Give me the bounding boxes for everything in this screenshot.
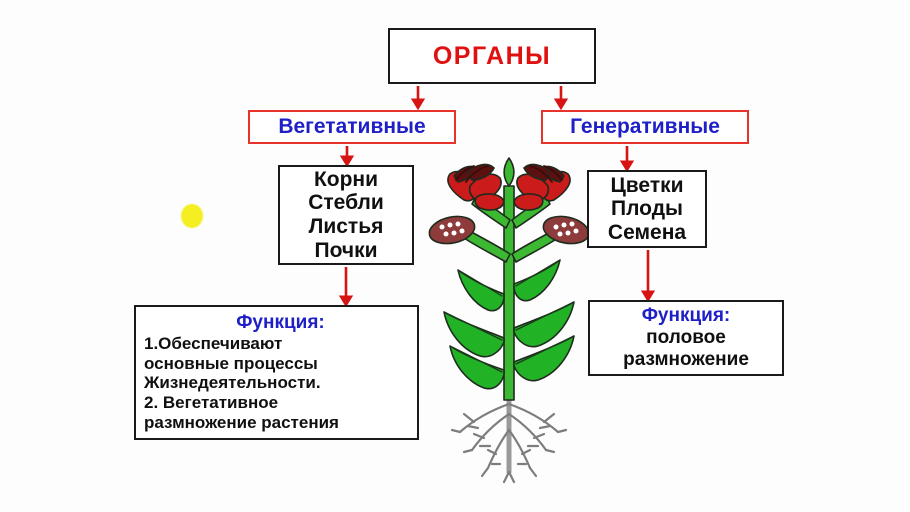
function-line: половое	[646, 327, 726, 349]
organ-list-item: Листья	[309, 215, 384, 239]
organ-list-item: Стебли	[308, 191, 384, 215]
page-title: ОРГАНЫ	[433, 42, 551, 71]
organ-list-item: Цветки	[610, 174, 683, 198]
function-line: Жизнедеятельности.	[144, 373, 321, 393]
function-line: размножение	[623, 349, 749, 371]
roots-icon	[452, 398, 566, 482]
category-box-generative: Генеративные	[541, 110, 749, 144]
function-line: размножение растения	[144, 413, 339, 433]
function-box-vegetative: Функция: 1.Обеспечивают основные процесс…	[134, 305, 419, 440]
yellow-dot-marker	[181, 204, 203, 228]
page-title-box: ОРГАНЫ	[388, 28, 596, 84]
organ-list-item: Плоды	[611, 197, 683, 221]
flowering-plant-illustration	[418, 142, 600, 492]
organ-list-item: Почки	[314, 239, 377, 263]
function-line: 1.Обеспечивают	[144, 334, 282, 354]
function-line: 2. Вегетативное	[144, 393, 278, 413]
category-label-generative: Генеративные	[570, 115, 720, 139]
organ-list-generative: Цветки Плоды Семена	[587, 170, 707, 248]
organ-list-item: Корни	[314, 168, 378, 192]
function-heading: Функция:	[144, 312, 431, 334]
function-heading: Функция:	[590, 305, 782, 327]
category-label-vegetative: Вегетативные	[278, 115, 425, 139]
function-box-generative: Функция: половое размножение	[588, 300, 784, 376]
category-box-vegetative: Вегетативные	[248, 110, 456, 144]
diagram-canvas: ОРГАНЫ Вегетативные Генеративные Корни С…	[0, 0, 910, 512]
organ-list-item: Семена	[608, 221, 686, 245]
function-line: основные процессы	[144, 354, 318, 374]
organ-list-vegetative: Корни Стебли Листья Почки	[278, 165, 414, 265]
